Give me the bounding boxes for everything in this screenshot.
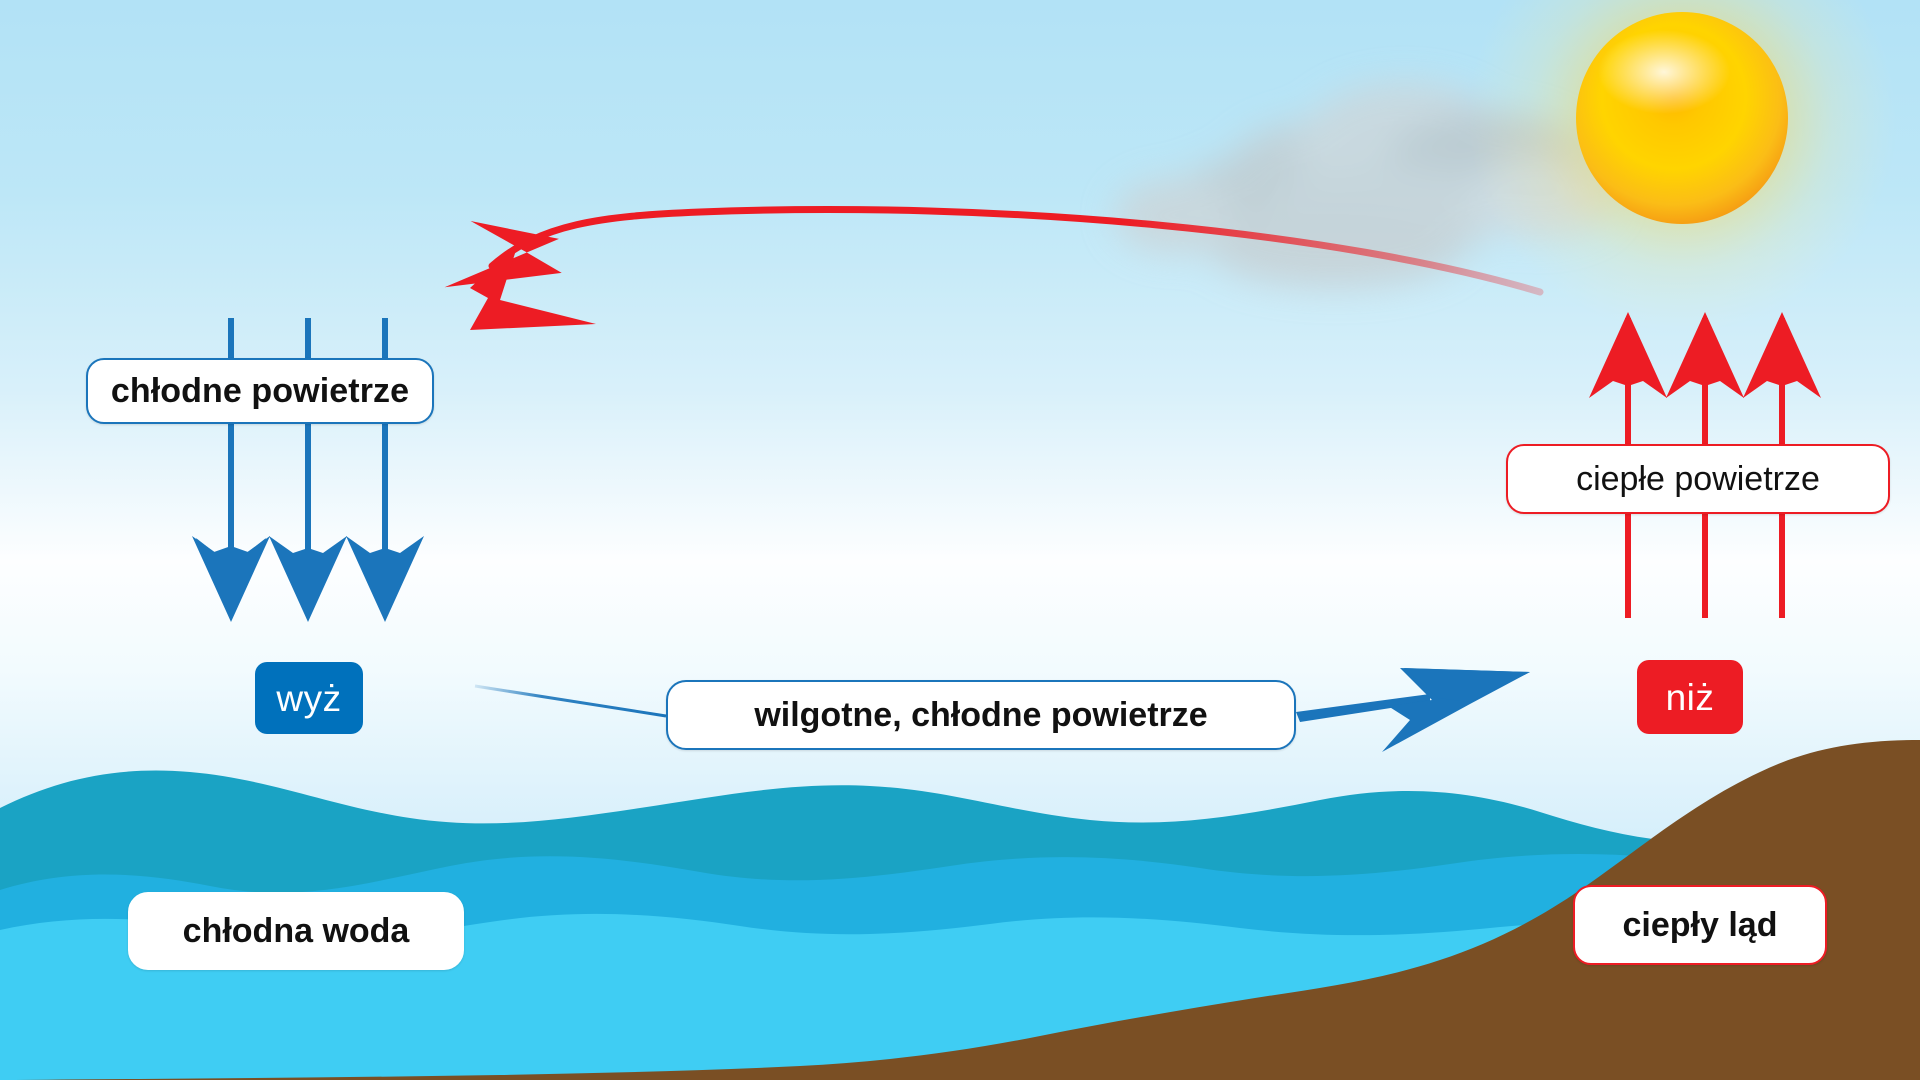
label-moist-cold-air: wilgotne, chłodne powietrze — [666, 680, 1296, 750]
label-warm-air-text: ciepłe powietrze — [1576, 462, 1820, 496]
sea-breeze-diagram: chłodne powietrze ciepłe powietrze wilgo… — [0, 0, 1920, 1080]
label-warm-land: ciepły ląd — [1573, 885, 1827, 965]
label-cold-water-text: chłodna woda — [183, 914, 410, 948]
label-cold-air: chłodne powietrze — [86, 358, 434, 424]
label-cold-air-text: chłodne powietrze — [111, 374, 409, 408]
badge-high-pressure: wyż — [255, 662, 363, 734]
label-cold-water: chłodna woda — [128, 892, 464, 970]
label-warm-air: ciepłe powietrze — [1506, 444, 1890, 514]
connector-line-high-to-box — [475, 686, 666, 716]
arrow-right-icon — [1296, 668, 1530, 752]
arrow-curved-left-icon — [436, 209, 1540, 330]
badge-low-pressure-text: niż — [1666, 679, 1715, 716]
badge-low-pressure: niż — [1637, 660, 1743, 734]
badge-high-pressure-text: wyż — [276, 680, 341, 717]
label-moist-cold-air-text: wilgotne, chłodne powietrze — [754, 698, 1207, 732]
label-warm-land-text: ciepły ląd — [1623, 908, 1778, 942]
